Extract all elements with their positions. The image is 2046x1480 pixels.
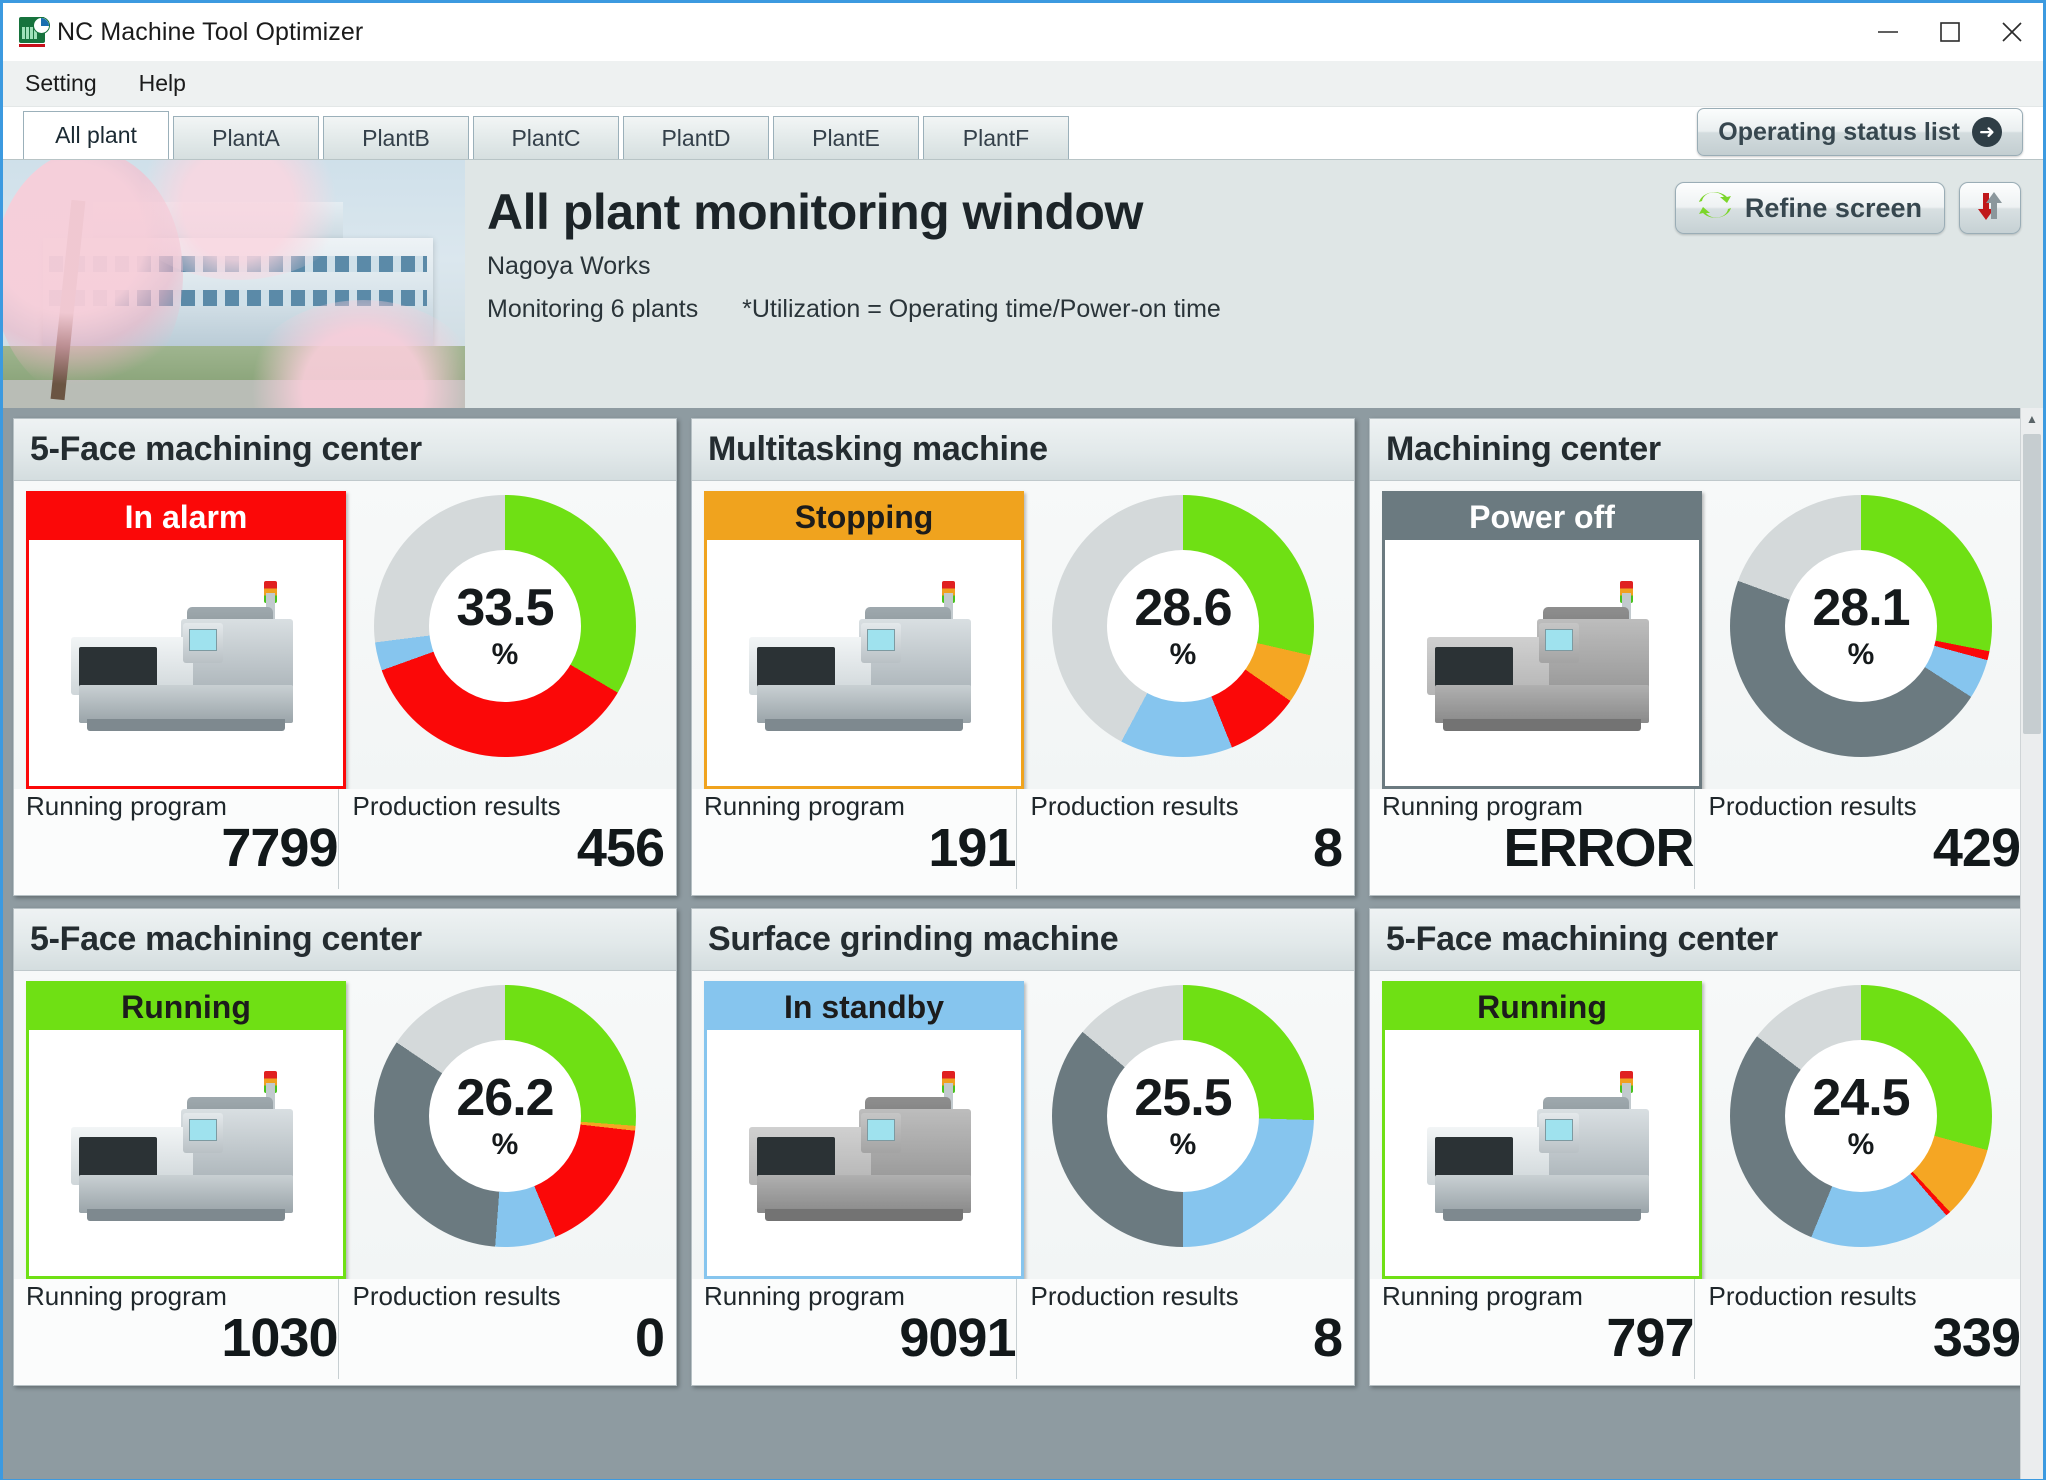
donut-center: 26.2% xyxy=(429,1040,581,1192)
status-badge: Running xyxy=(1385,984,1699,1030)
running-program-label: Running program xyxy=(1382,793,1694,820)
menu-item-help[interactable]: Help xyxy=(133,68,192,99)
status-badge: Running xyxy=(29,984,343,1030)
machine-card[interactable]: 5-Face machining centerRunning26.2%Runni… xyxy=(13,908,677,1386)
machine-card-footer: Running program191Production results8 xyxy=(692,789,1354,895)
cards-area: 5-Face machining centerIn alarm33.5%Runn… xyxy=(3,408,2043,1479)
machine-card[interactable]: Surface grinding machineIn standby25.5%R… xyxy=(691,908,1355,1386)
utilization-chart: 25.5% xyxy=(1024,981,1342,1279)
utilization-chart: 24.5% xyxy=(1702,981,2020,1279)
machine-status-panel: Running xyxy=(26,981,346,1279)
machine-status-panel: Power off xyxy=(1382,491,1702,789)
status-badge: In alarm xyxy=(29,494,343,540)
header-text: All plant monitoring window Nagoya Works… xyxy=(465,160,1221,408)
machine-card-footer: Running programERRORProduction results42… xyxy=(1370,789,2032,895)
sort-arrows-button[interactable] xyxy=(1959,182,2021,234)
machine-image xyxy=(1385,1030,1699,1276)
running-program-label: Running program xyxy=(26,1283,338,1310)
app-chart-icon xyxy=(19,17,49,47)
utilization-donut: 25.5% xyxy=(1052,985,1314,1247)
window-controls xyxy=(1857,3,2043,61)
utilization-unit: % xyxy=(1848,1130,1875,1160)
running-program-label: Running program xyxy=(704,1283,1016,1310)
machine-card-footer: Running program797Production results339 xyxy=(1370,1279,2032,1385)
utilization-value: 25.5 xyxy=(1134,1072,1231,1124)
utilization-unit: % xyxy=(1848,640,1875,670)
tab-plantf[interactable]: PlantF xyxy=(923,116,1069,159)
machine-status-box: Stopping xyxy=(704,491,1024,789)
machine-card-header: Multitasking machine xyxy=(692,419,1354,481)
production-results-value: 0 xyxy=(353,1310,665,1367)
production-results-metric: Production results339 xyxy=(1694,1279,2021,1379)
operating-status-list-label: Operating status list xyxy=(1718,118,1960,147)
machine-name: Machining center xyxy=(1386,430,1661,469)
production-results-label: Production results xyxy=(1031,1283,1343,1310)
machine-card-body: Running24.5% xyxy=(1370,971,2032,1279)
machine-status-box: In alarm xyxy=(26,491,346,789)
utilization-value: 28.6 xyxy=(1134,582,1231,634)
machine-status-box: Power off xyxy=(1382,491,1702,789)
arrow-right-icon: ➜ xyxy=(1972,117,2002,147)
close-icon[interactable] xyxy=(1981,3,2043,61)
menu-bar: Setting Help xyxy=(3,61,2043,107)
production-results-metric: Production results8 xyxy=(1016,789,1343,889)
donut-center: 25.5% xyxy=(1107,1040,1259,1192)
machine-image xyxy=(29,540,343,786)
machine-illustration xyxy=(1417,1083,1667,1233)
machine-card-footer: Running program1030Production results0 xyxy=(14,1279,676,1385)
donut-center: 33.5% xyxy=(429,550,581,702)
production-results-label: Production results xyxy=(1709,793,2021,820)
machine-name: 5-Face machining center xyxy=(30,920,422,959)
machine-card[interactable]: Machining centerPower off28.1%Running pr… xyxy=(1369,418,2033,896)
tab-planta[interactable]: PlantA xyxy=(173,116,319,159)
running-program-label: Running program xyxy=(26,793,338,820)
vertical-scrollbar[interactable]: ▲ xyxy=(2020,408,2043,1479)
utilization-value: 24.5 xyxy=(1812,1072,1909,1124)
running-program-value: 9091 xyxy=(704,1310,1016,1367)
running-program-label: Running program xyxy=(704,793,1016,820)
machine-card[interactable]: Multitasking machineStopping28.6%Running… xyxy=(691,418,1355,896)
machine-card-header: Machining center xyxy=(1370,419,2032,481)
utilization-unit: % xyxy=(1170,1130,1197,1160)
header-site: Nagoya Works xyxy=(487,251,1221,283)
utilization-donut: 33.5% xyxy=(374,495,636,757)
utilization-chart: 28.6% xyxy=(1024,491,1342,789)
status-badge: Stopping xyxy=(707,494,1021,540)
machine-status-panel: In standby xyxy=(704,981,1024,1279)
machine-name: 5-Face machining center xyxy=(1386,920,1778,959)
machine-status-panel: Stopping xyxy=(704,491,1024,789)
minimize-icon[interactable] xyxy=(1857,3,1919,61)
running-program-value: ERROR xyxy=(1382,820,1694,877)
tab-list: All plantPlantAPlantBPlantCPlantDPlantEP… xyxy=(23,111,1073,159)
machine-status-panel: Running xyxy=(1382,981,1702,1279)
running-program-metric: Running program191 xyxy=(704,789,1016,889)
running-program-value: 7799 xyxy=(26,820,338,877)
production-results-metric: Production results8 xyxy=(1016,1279,1343,1379)
machine-image xyxy=(1385,540,1699,786)
tab-strip: All plantPlantAPlantBPlantCPlantDPlantEP… xyxy=(3,107,2043,159)
running-program-metric: Running program9091 xyxy=(704,1279,1016,1379)
utilization-donut: 28.6% xyxy=(1052,495,1314,757)
donut-center: 24.5% xyxy=(1785,1040,1937,1192)
machine-card-body: Running26.2% xyxy=(14,971,676,1279)
production-results-label: Production results xyxy=(353,793,665,820)
machine-image xyxy=(707,1030,1021,1276)
production-results-value: 429 xyxy=(1709,820,2021,877)
utilization-unit: % xyxy=(492,640,519,670)
machine-card-body: Power off28.1% xyxy=(1370,481,2032,789)
plant-photo xyxy=(3,160,465,408)
machine-illustration xyxy=(61,593,311,743)
status-badge: In standby xyxy=(707,984,1021,1030)
tab-plantb[interactable]: PlantB xyxy=(323,116,469,159)
menu-item-setting[interactable]: Setting xyxy=(19,68,103,99)
machine-status-box: Running xyxy=(26,981,346,1279)
utilization-value: 26.2 xyxy=(456,1072,553,1124)
machine-card-header: 5-Face machining center xyxy=(14,909,676,971)
tab-plantc[interactable]: PlantC xyxy=(473,116,619,159)
machine-status-panel: In alarm xyxy=(26,491,346,789)
production-results-value: 456 xyxy=(353,820,665,877)
production-results-metric: Production results429 xyxy=(1694,789,2021,889)
machine-card[interactable]: 5-Face machining centerIn alarm33.5%Runn… xyxy=(13,418,677,896)
machine-card-header: 5-Face machining center xyxy=(1370,909,2032,971)
tab-plante[interactable]: PlantE xyxy=(773,116,919,159)
header-note: *Utilization = Operating time/Power-on t… xyxy=(742,295,1221,323)
production-results-metric: Production results456 xyxy=(338,789,665,889)
machine-card[interactable]: 5-Face machining centerRunning24.5%Runni… xyxy=(1369,908,2033,1386)
running-program-metric: Running program1030 xyxy=(26,1279,338,1379)
machine-illustration xyxy=(739,593,989,743)
utilization-chart: 28.1% xyxy=(1702,491,2020,789)
machine-image xyxy=(29,1030,343,1276)
utilization-donut: 28.1% xyxy=(1730,495,1992,757)
running-program-value: 1030 xyxy=(26,1310,338,1367)
utilization-donut: 24.5% xyxy=(1730,985,1992,1247)
machine-name: 5-Face machining center xyxy=(30,430,422,469)
sort-arrows-icon xyxy=(1973,189,2007,228)
machine-status-box: Running xyxy=(1382,981,1702,1279)
page-title: All plant monitoring window xyxy=(487,186,1221,239)
refine-screen-button[interactable]: Refine screen xyxy=(1675,182,1945,234)
operating-status-list-button[interactable]: Operating status list ➜ xyxy=(1697,108,2023,156)
production-results-label: Production results xyxy=(1031,793,1343,820)
machine-card-header: Surface grinding machine xyxy=(692,909,1354,971)
scroll-up-icon[interactable]: ▲ xyxy=(2021,408,2043,430)
machine-status-box: In standby xyxy=(704,981,1024,1279)
app-window: NC Machine Tool Optimizer Setting Help A… xyxy=(0,0,2046,1480)
utilization-value: 33.5 xyxy=(456,582,553,634)
production-results-value: 8 xyxy=(1031,820,1343,877)
donut-center: 28.6% xyxy=(1107,550,1259,702)
utilization-value: 28.1 xyxy=(1812,582,1909,634)
maximize-icon[interactable] xyxy=(1919,3,1981,61)
refresh-icon xyxy=(1698,190,1732,227)
machine-illustration xyxy=(61,1083,311,1233)
header-monitoring: Monitoring 6 plants xyxy=(487,295,698,323)
machine-card-body: In alarm33.5% xyxy=(14,481,676,789)
utilization-donut: 26.2% xyxy=(374,985,636,1247)
machine-name: Multitasking machine xyxy=(708,430,1048,469)
running-program-metric: Running program7799 xyxy=(26,789,338,889)
header-monitoring-line: Monitoring 6 plants *Utilization = Opera… xyxy=(487,294,1221,326)
status-badge: Power off xyxy=(1385,494,1699,540)
utilization-unit: % xyxy=(492,1130,519,1160)
machine-illustration xyxy=(739,1083,989,1233)
donut-center: 28.1% xyxy=(1785,550,1937,702)
running-program-metric: Running program797 xyxy=(1382,1279,1694,1379)
window-title: NC Machine Tool Optimizer xyxy=(57,18,363,47)
header-panel: All plant monitoring window Nagoya Works… xyxy=(3,159,2043,408)
production-results-metric: Production results0 xyxy=(338,1279,665,1379)
machine-card-grid: 5-Face machining centerIn alarm33.5%Runn… xyxy=(13,418,2033,1386)
title-bar: NC Machine Tool Optimizer xyxy=(3,3,2043,61)
running-program-label: Running program xyxy=(1382,1283,1694,1310)
production-results-label: Production results xyxy=(1709,1283,2021,1310)
tab-plantd[interactable]: PlantD xyxy=(623,116,769,159)
running-program-metric: Running programERROR xyxy=(1382,789,1694,889)
machine-name: Surface grinding machine xyxy=(708,920,1118,959)
refine-screen-label: Refine screen xyxy=(1745,193,1922,224)
machine-image xyxy=(707,540,1021,786)
machine-card-footer: Running program7799Production results456 xyxy=(14,789,676,895)
production-results-value: 339 xyxy=(1709,1310,2021,1367)
production-results-value: 8 xyxy=(1031,1310,1343,1367)
machine-card-body: Stopping28.6% xyxy=(692,481,1354,789)
utilization-unit: % xyxy=(1170,640,1197,670)
tab-all-plant[interactable]: All plant xyxy=(23,111,169,159)
machine-illustration xyxy=(1417,593,1667,743)
utilization-chart: 33.5% xyxy=(346,491,664,789)
scrollbar-thumb[interactable] xyxy=(2023,434,2041,734)
production-results-label: Production results xyxy=(353,1283,665,1310)
running-program-value: 191 xyxy=(704,820,1016,877)
utilization-chart: 26.2% xyxy=(346,981,664,1279)
header-buttons: Refine screen xyxy=(1675,182,2021,234)
machine-card-header: 5-Face machining center xyxy=(14,419,676,481)
machine-card-footer: Running program9091Production results8 xyxy=(692,1279,1354,1385)
machine-card-body: In standby25.5% xyxy=(692,971,1354,1279)
running-program-value: 797 xyxy=(1382,1310,1694,1367)
